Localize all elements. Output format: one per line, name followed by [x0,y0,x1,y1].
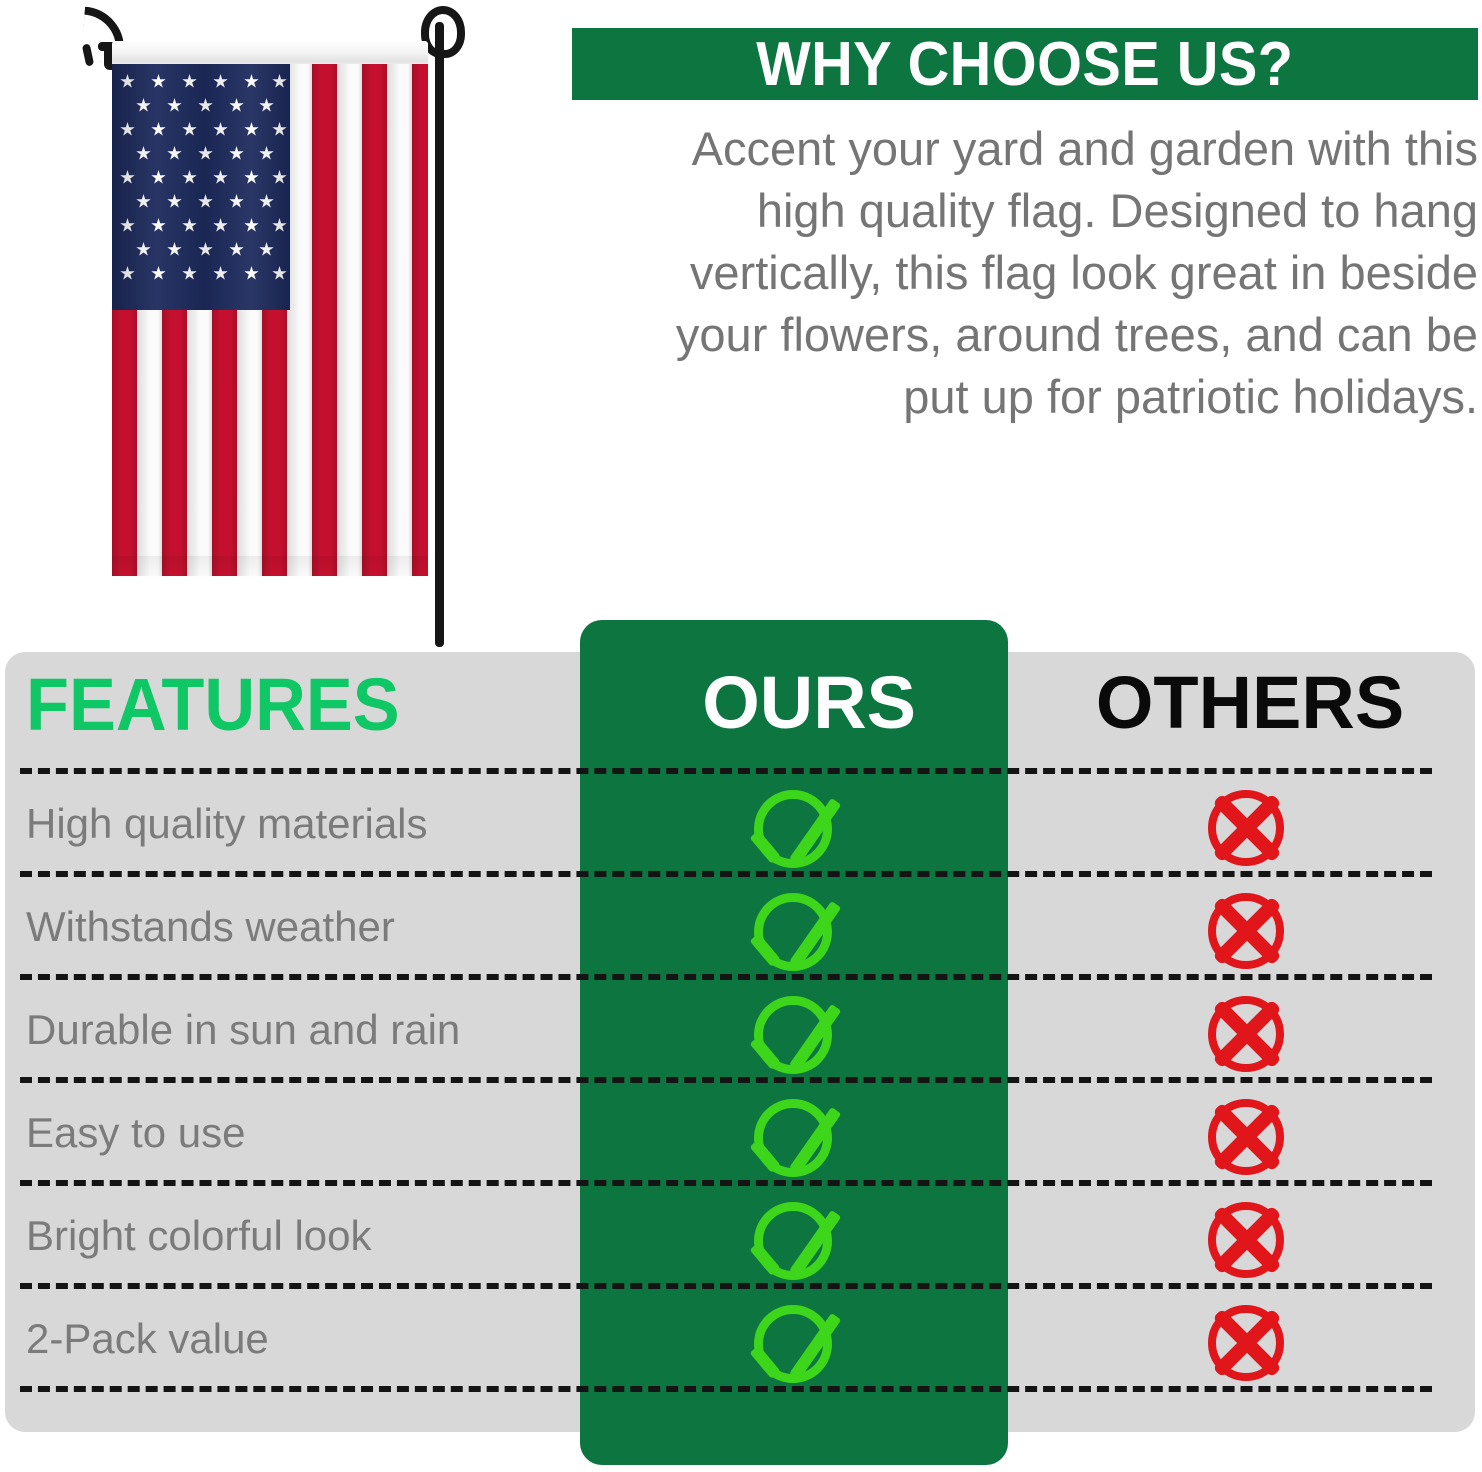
product-flag-image [0,0,560,660]
column-header-others: OTHERS [1062,660,1438,745]
check-circle-icon [752,1091,848,1187]
cross-circle-icon [1204,1299,1296,1391]
why-choose-us-banner: WHY CHOOSE US? [572,28,1478,100]
flag-canton-shading [112,64,290,310]
feature-label: Easy to use [26,1109,566,1157]
check-circle-icon [752,1297,848,1393]
cross-circle-icon [1204,1196,1296,1288]
why-choose-us-title: WHY CHOOSE US? [756,29,1293,100]
check-circle-icon [752,1194,848,1290]
flag-canton [112,64,290,310]
feature-label: High quality materials [26,800,566,848]
cross-circle-icon [1204,1093,1296,1185]
feature-label: Durable in sun and rain [26,1006,566,1054]
check-circle-icon [752,782,848,878]
cross-circle-icon [1204,990,1296,1082]
feature-label: Bright colorful look [26,1212,566,1260]
feature-label: 2-Pack value [26,1315,566,1363]
cross-circle-icon [1204,784,1296,876]
feature-label: Withstands weather [26,903,566,951]
flag-pole-shaft [435,22,444,647]
product-description-paragraph: Accent your yard and garden with this hi… [600,118,1478,428]
column-header-ours: OURS [0,660,1008,745]
row-separator [20,768,1432,774]
check-circle-icon [752,885,848,981]
cross-circle-icon [1204,887,1296,979]
flag-fabric [112,64,428,576]
check-circle-icon [752,988,848,1084]
